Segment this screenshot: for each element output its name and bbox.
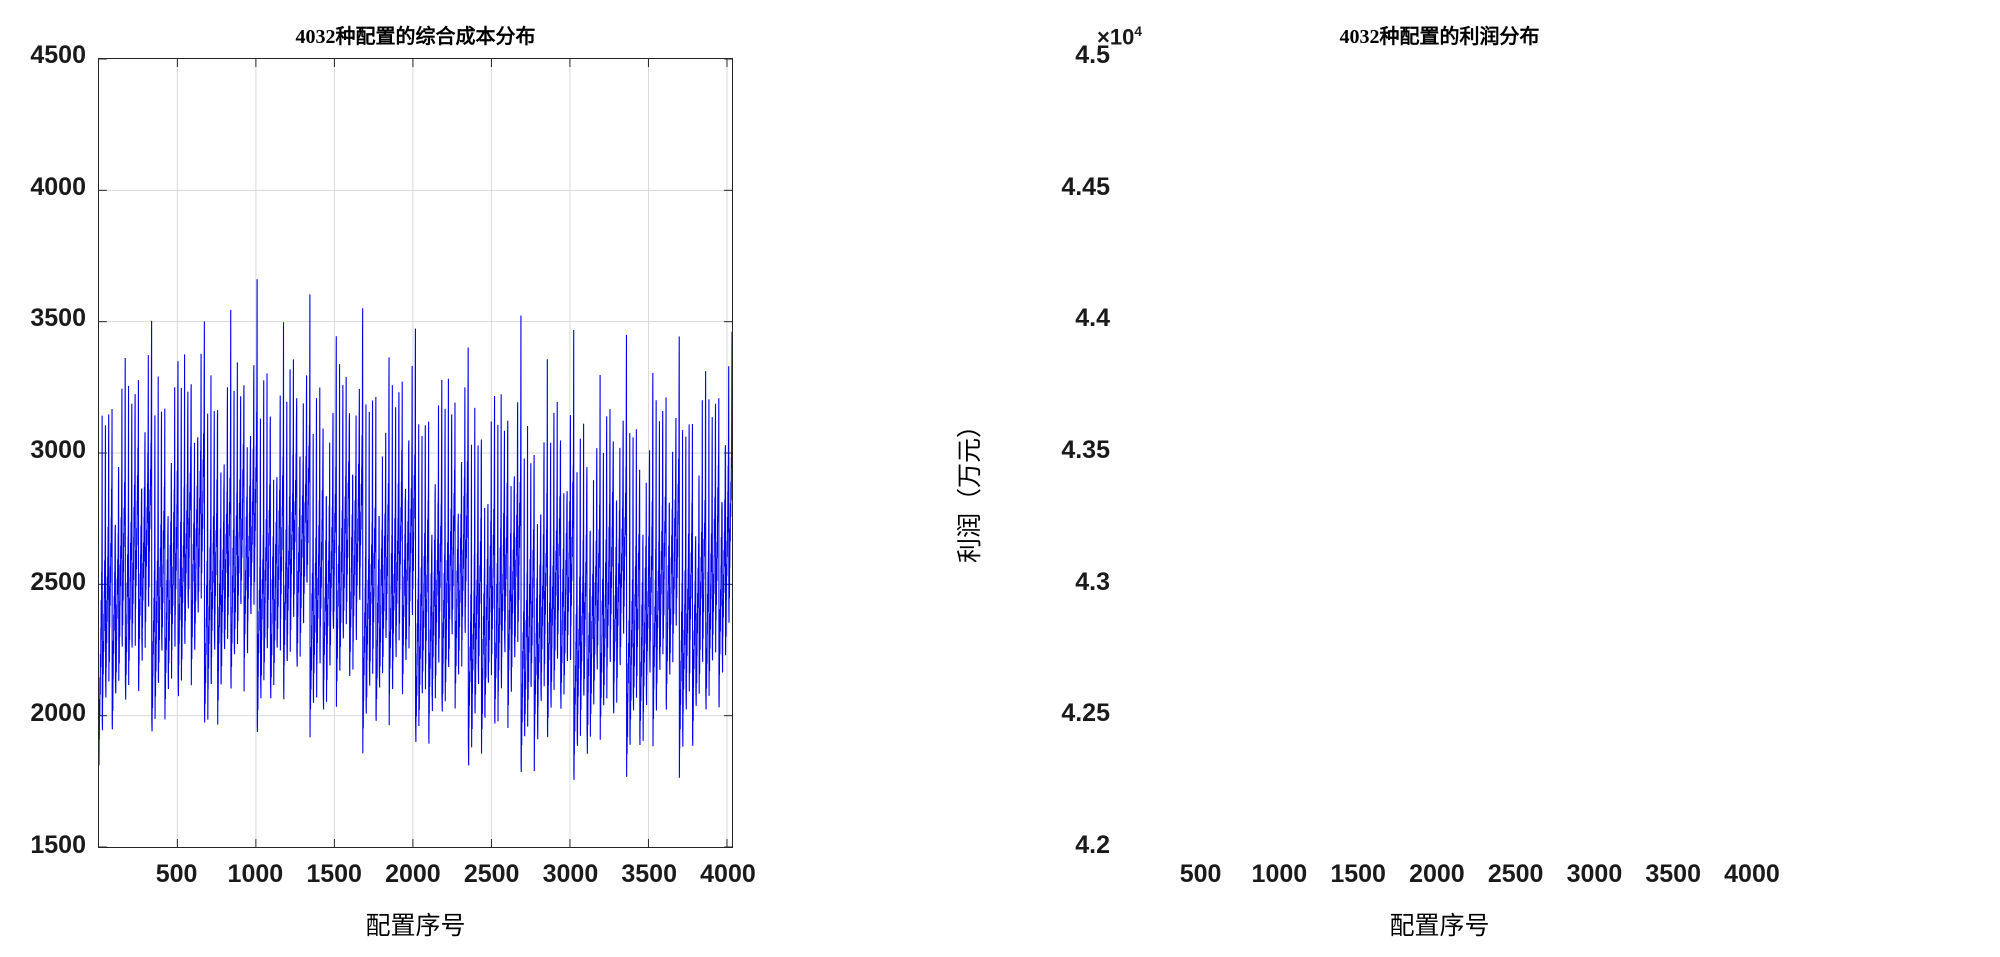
y-tick-label: 4000 — [0, 173, 86, 202]
profit-y-axis-label: 利润（万元） — [950, 413, 986, 563]
y-tick-label: 4.45 — [982, 173, 1110, 202]
y-tick-label: 4.4 — [982, 304, 1110, 333]
y-tick-label: 4.3 — [982, 568, 1110, 597]
y-tick-label: 4.25 — [982, 699, 1110, 728]
y-tick-label: 4.2 — [982, 831, 1110, 860]
y-tick-label: 4.35 — [982, 436, 1110, 465]
exponent-power: 4 — [1134, 24, 1142, 39]
y-tick-label: 4500 — [0, 41, 86, 70]
profit-plot-title: 4032种配置的利润分布 — [1122, 20, 1757, 49]
y-tick-label: 2500 — [0, 568, 86, 597]
data-series-line — [99, 279, 732, 780]
x-tick-label: 4000 — [668, 860, 788, 889]
y-tick-label: 3500 — [0, 304, 86, 333]
cost-plot-panel: 4032种配置的综合成本分布 4500400035003000250020001… — [0, 0, 1000, 957]
cost-x-axis-label: 配置序号 — [98, 906, 733, 942]
profit-x-axis-label: 配置序号 — [1122, 906, 1757, 942]
profit-plot-panel: 4032种配置的利润分布 ×104 4.54.454.44.354.34.254… — [1000, 0, 2000, 957]
y-tick-label: 3000 — [0, 436, 86, 465]
x-tick-label: 4000 — [1692, 860, 1812, 889]
y-tick-label: 1500 — [0, 831, 86, 860]
cost-series-canvas — [99, 59, 732, 847]
y-tick-label: 4.5 — [982, 41, 1110, 70]
y-tick-label: 2000 — [0, 699, 86, 728]
cost-plot-title: 4032种配置的综合成本分布 — [98, 20, 733, 49]
cost-plot-axes — [98, 58, 733, 848]
matlab-figure-window: 4032种配置的综合成本分布 4500400035003000250020001… — [0, 0, 2000, 957]
